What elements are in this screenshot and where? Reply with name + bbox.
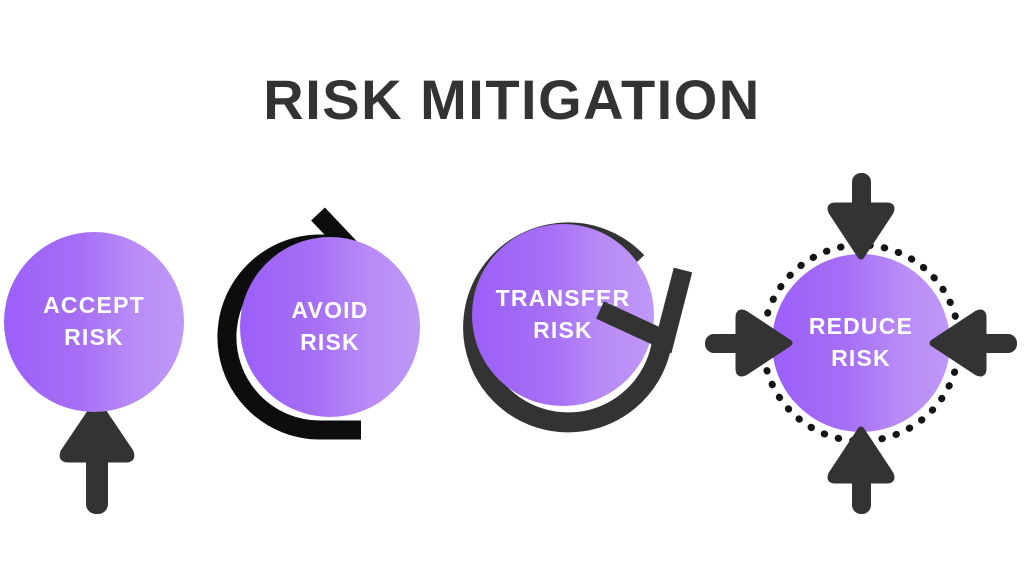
up-arrow-icon xyxy=(831,430,891,514)
reduce-risk-label: REDUCE RISK xyxy=(772,254,950,432)
infographic-canvas: RISK MITIGATION ACCEPT RISK xyxy=(0,0,1024,576)
reduce-risk-circle[interactable]: REDUCE RISK xyxy=(772,254,950,432)
accept-risk-circle[interactable]: ACCEPT RISK xyxy=(4,232,184,412)
node-accept-risk[interactable]: ACCEPT RISK xyxy=(0,160,200,520)
avoid-risk-label: AVOID RISK xyxy=(240,237,420,417)
node-reduce-risk[interactable]: REDUCE RISK xyxy=(695,160,1024,520)
node-avoid-risk[interactable]: AVOID RISK xyxy=(222,190,437,450)
down-arrow-icon xyxy=(831,173,891,256)
accept-risk-line2: RISK xyxy=(64,322,124,354)
page-title: RISK MITIGATION xyxy=(0,72,1024,128)
accept-risk-label: ACCEPT RISK xyxy=(4,232,184,412)
avoid-risk-line2: RISK xyxy=(300,327,360,359)
reduce-risk-line2: RISK xyxy=(831,343,891,375)
transfer-risk-line2: RISK xyxy=(533,315,593,347)
accept-risk-line1: ACCEPT xyxy=(43,290,145,322)
avoid-risk-line1: AVOID xyxy=(291,295,368,327)
avoid-risk-circle[interactable]: AVOID RISK xyxy=(240,237,420,417)
node-transfer-risk[interactable]: TRANSFER RISK xyxy=(455,205,700,445)
transfer-risk-circle[interactable]: TRANSFER RISK xyxy=(472,224,654,406)
transfer-risk-line1: TRANSFER xyxy=(496,283,631,315)
reduce-risk-line1: REDUCE xyxy=(809,311,913,343)
transfer-risk-label: TRANSFER RISK xyxy=(472,224,654,406)
